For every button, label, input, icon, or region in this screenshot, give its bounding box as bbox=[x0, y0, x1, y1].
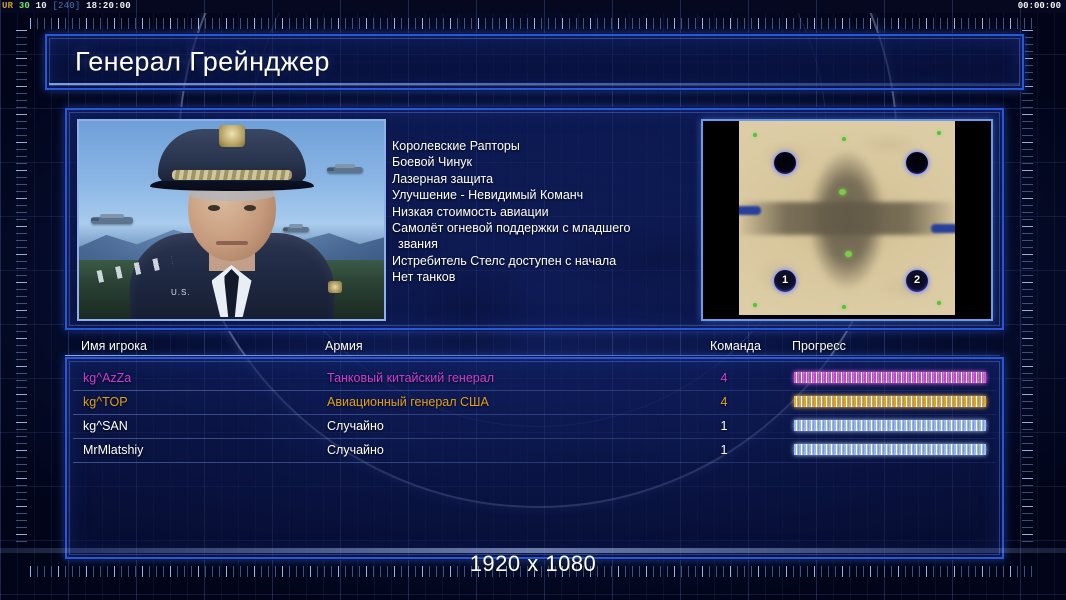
cap-eagle-insignia-icon bbox=[219, 125, 245, 147]
network-value-2: 10 bbox=[36, 1, 47, 11]
ability-item-continuation: звания bbox=[392, 236, 712, 252]
player-progress-bar bbox=[794, 372, 986, 383]
general-portrait: U.S. bbox=[77, 119, 386, 321]
top-status-bar: UR 30 10 [240] 18:20:00 00:00:00 bbox=[0, 0, 1066, 13]
portrait-eye-left bbox=[208, 205, 220, 211]
map-water-left bbox=[739, 206, 761, 215]
map-start-position-1[interactable]: 1 bbox=[773, 269, 797, 293]
ruler-top bbox=[30, 18, 1036, 29]
ability-item: Улучшение - Невидимый Команч bbox=[392, 187, 712, 203]
map-supply-dot bbox=[937, 301, 941, 305]
network-label: UR bbox=[2, 1, 13, 11]
ability-item: Королевские Рапторы bbox=[392, 138, 712, 154]
player-name: kg^SAN bbox=[83, 419, 128, 433]
map-oil-derrick-icon bbox=[845, 251, 852, 257]
map-start-position[interactable] bbox=[773, 151, 797, 175]
ability-item: Низкая стоимость авиации bbox=[392, 204, 712, 220]
title-panel: Генерал Грейнджер bbox=[45, 34, 1024, 90]
ability-item: Самолёт огневой поддержки с младшего bbox=[392, 220, 712, 236]
column-header-army: Армия bbox=[325, 339, 363, 353]
map-start-position[interactable] bbox=[905, 151, 929, 175]
title-underline bbox=[49, 83, 1020, 85]
map-supply-dot bbox=[842, 305, 846, 309]
ability-item: Истребитель Стелс доступен с начала bbox=[392, 253, 712, 269]
ability-item: Нет танков bbox=[392, 269, 712, 285]
resolution-label: 1920 x 1080 bbox=[0, 551, 1066, 577]
network-stats: UR 30 10 [240] 18:20:00 bbox=[2, 0, 131, 13]
map-preview[interactable]: 1 2 bbox=[701, 119, 993, 321]
map-supply-dot bbox=[842, 137, 846, 141]
column-header-team: Команда bbox=[710, 339, 761, 353]
aircraft-icon bbox=[283, 227, 309, 232]
map-supply-dot bbox=[753, 133, 757, 137]
table-row[interactable]: kg^SAN Случайно 1 bbox=[67, 415, 1002, 439]
column-header-progress: Прогресс bbox=[792, 339, 846, 353]
network-value-1: 30 bbox=[19, 1, 30, 11]
player-army: Танковый китайский генерал bbox=[327, 371, 494, 385]
player-name: kg^TOP bbox=[83, 395, 128, 409]
player-army: Случайно bbox=[327, 443, 384, 457]
map-supply-dot bbox=[937, 131, 941, 135]
table-row[interactable]: kg^AzZa Танковый китайский генерал 4 bbox=[67, 367, 1002, 391]
map-oil-derrick-icon bbox=[839, 189, 846, 195]
general-info-panel: U.S. Королевские Рапторы Боевой Чинук Ла… bbox=[65, 108, 1004, 330]
general-abilities-list: Королевские Рапторы Боевой Чинук Лазерна… bbox=[392, 138, 712, 286]
portrait-eye-right bbox=[244, 205, 256, 211]
ability-item: Боевой Чинук bbox=[392, 154, 712, 170]
aircraft-icon bbox=[91, 217, 133, 224]
player-progress-bar bbox=[794, 396, 986, 407]
player-progress-bar bbox=[794, 444, 986, 455]
game-lobby-screen: UR 30 10 [240] 18:20:00 00:00:00 Генерал… bbox=[0, 0, 1066, 600]
player-name: kg^AzZa bbox=[83, 371, 131, 385]
player-progress-bar bbox=[794, 420, 986, 431]
player-army: Случайно bbox=[327, 419, 384, 433]
portrait-mouth bbox=[216, 241, 248, 245]
table-row[interactable]: MrMlatshiy Случайно 1 bbox=[67, 439, 1002, 463]
page-title: Генерал Грейнджер bbox=[75, 47, 330, 78]
map-terrain-corridor bbox=[739, 202, 955, 235]
top-bar-gridlines bbox=[0, 0, 1066, 13]
player-name: MrMlatshiy bbox=[83, 443, 143, 457]
map-start-position-2[interactable]: 2 bbox=[905, 269, 929, 293]
column-header-name: Имя игрока bbox=[81, 339, 147, 353]
elapsed-clock: 00:00:00 bbox=[1018, 0, 1061, 13]
cap-scrambled-eggs-icon bbox=[172, 170, 292, 180]
ruler-right bbox=[1022, 30, 1033, 546]
player-army: Авиационный генерал США bbox=[327, 395, 489, 409]
aircraft-icon bbox=[327, 167, 363, 173]
player-team: 1 bbox=[712, 443, 736, 457]
player-list-panel: kg^AzZa Танковый китайский генерал 4 kg^… bbox=[65, 357, 1004, 559]
map-image: 1 2 bbox=[739, 121, 955, 315]
lapel-insignia-icon bbox=[328, 281, 342, 293]
ability-item: Лазерная защита bbox=[392, 171, 712, 187]
player-table-header: Имя игрока Армия Команда Прогресс bbox=[65, 336, 1000, 357]
table-row[interactable]: kg^TOP Авиационный генерал США 4 bbox=[67, 391, 1002, 415]
row-divider bbox=[73, 462, 996, 463]
player-team: 1 bbox=[712, 419, 736, 433]
network-value-3: [240] bbox=[52, 1, 80, 11]
player-team: 4 bbox=[712, 395, 736, 409]
map-water-right bbox=[931, 224, 955, 233]
ruler-left bbox=[16, 30, 27, 546]
player-team: 4 bbox=[712, 371, 736, 385]
session-clock: 18:20:00 bbox=[86, 1, 131, 11]
uniform-us-tag: U.S. bbox=[171, 288, 191, 297]
map-supply-dot bbox=[753, 303, 757, 307]
